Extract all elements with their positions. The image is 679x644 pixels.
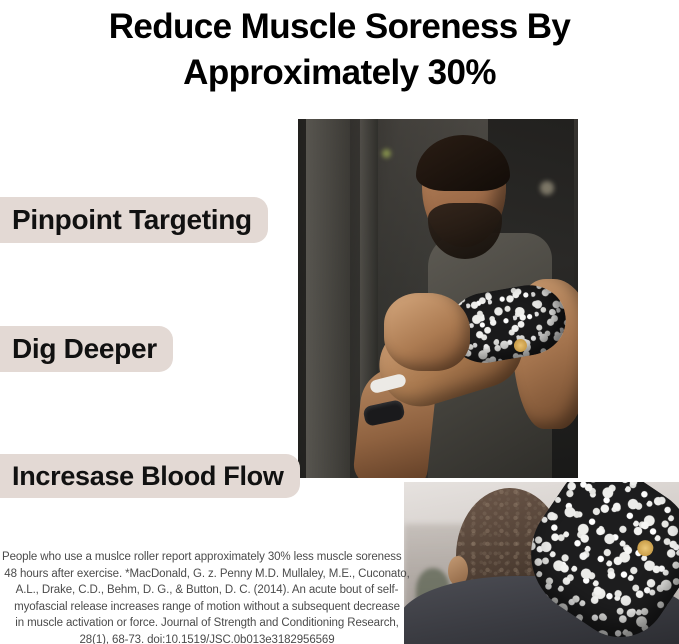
athlete-hair — [416, 135, 510, 191]
footnote-citation: People who use a muslce roller report ap… — [2, 549, 412, 644]
feature-pill-label: Dig Deeper — [12, 333, 157, 365]
feature-pill-label: Pinpoint Targeting — [12, 204, 252, 236]
feature-pill-label: Incresase Blood Flow — [12, 461, 284, 492]
footnote-line-5: in muscle activation or force. Journal o… — [2, 615, 412, 632]
athlete-figure — [336, 129, 544, 478]
roller-brand-dot — [634, 537, 656, 559]
athlete-hand — [384, 293, 470, 371]
headline-line-2: Approximately 30% — [0, 50, 679, 96]
footnote-line-3: A.L., Drake, C.D., Behm, D. G., & Button… — [2, 582, 412, 599]
feature-pill-increase-blood-flow: Incresase Blood Flow — [0, 454, 300, 498]
product-photo-neck — [404, 482, 679, 644]
footnote-line-2: 48 hours after exercise. *MacDonald, G. … — [2, 566, 412, 583]
footnote-line-1: People who use a muslce roller report ap… — [2, 549, 412, 566]
feature-pill-dig-deeper: Dig Deeper — [0, 326, 173, 372]
product-photo-gym — [298, 119, 578, 478]
marketing-infographic: Reduce Muscle Soreness By Approximately … — [0, 0, 679, 644]
feature-pill-pinpoint-targeting: Pinpoint Targeting — [0, 197, 268, 243]
footnote-line-4: myofascial release increases range of mo… — [2, 599, 412, 616]
roller-brand-dot — [512, 337, 529, 354]
page-title: Reduce Muscle Soreness By Approximately … — [0, 0, 679, 96]
footnote-line-6: 28(1), 68-73. doi:10.1519/JSC.0b013e3182… — [2, 632, 412, 644]
headline-line-1: Reduce Muscle Soreness By — [0, 4, 679, 50]
